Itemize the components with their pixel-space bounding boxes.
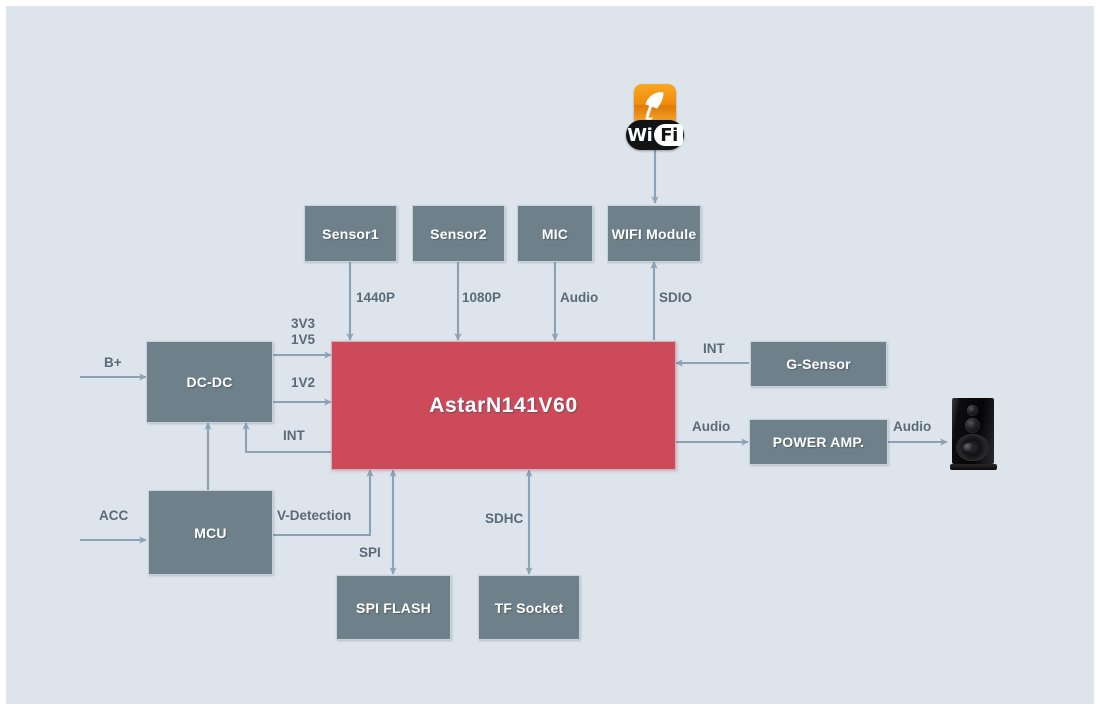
speaker-tweeter xyxy=(967,405,978,416)
wifi-wordmark: Wi Fi xyxy=(626,120,684,150)
block-tf-socket-label: TF Socket xyxy=(495,600,564,616)
block-wifi-module[interactable]: WIFI Module xyxy=(607,205,701,262)
block-sensor2-label: Sensor2 xyxy=(430,226,487,242)
block-soc-label: AstarN141V60 xyxy=(429,394,577,418)
block-power-amp[interactable]: POWER AMP. xyxy=(749,419,888,465)
block-spi-flash[interactable]: SPI FLASH xyxy=(336,575,451,640)
block-tf-socket[interactable]: TF Socket xyxy=(478,575,580,640)
speaker-icon xyxy=(950,398,997,472)
speaker-base xyxy=(950,464,997,470)
label-v-detection: V-Detection xyxy=(277,508,351,525)
label-mic-audio: Audio xyxy=(560,290,598,307)
label-soc-int: INT xyxy=(283,428,305,445)
label-spi: SPI xyxy=(359,545,381,562)
block-spi-flash-label: SPI FLASH xyxy=(356,600,431,616)
label-3v3: 3V3 xyxy=(291,316,315,333)
block-wifi-module-label: WIFI Module xyxy=(612,226,697,242)
label-amp-audio-out: Audio xyxy=(893,419,931,436)
label-1080p: 1080P xyxy=(462,290,501,307)
label-1440p: 1440P xyxy=(356,290,395,307)
wifi-wordmark-fi: Fi xyxy=(660,125,677,146)
block-sensor1[interactable]: Sensor1 xyxy=(304,205,397,262)
label-gsensor-int: INT xyxy=(703,341,725,358)
block-sensor2[interactable]: Sensor2 xyxy=(412,205,505,262)
block-mic-label: MIC xyxy=(542,226,568,242)
label-1v2: 1V2 xyxy=(291,375,315,392)
block-soc-astarn141v60[interactable]: AstarN141V60 xyxy=(331,341,676,470)
label-soc-audio-out: Audio xyxy=(692,419,730,436)
diagram-canvas: Sensor1 Sensor2 MIC WIFI Module AstarN14… xyxy=(0,0,1100,710)
block-dcdc-label: DC-DC xyxy=(186,374,232,390)
wifi-logo: Wi Fi xyxy=(626,84,684,150)
block-g-sensor-label: G-Sensor xyxy=(786,356,851,372)
wire-mcu-vdetection-to-soc xyxy=(273,470,370,535)
block-g-sensor[interactable]: G-Sensor xyxy=(750,341,887,387)
block-power-amp-label: POWER AMP. xyxy=(773,434,864,450)
label-sdio: SDIO xyxy=(659,290,692,307)
wifi-wordmark-wi: Wi xyxy=(627,125,654,146)
label-bplus: B+ xyxy=(104,355,122,372)
block-sensor1-label: Sensor1 xyxy=(322,226,379,242)
label-sdhc: SDHC xyxy=(485,511,523,528)
speaker-midrange xyxy=(965,418,980,433)
label-acc: ACC xyxy=(99,508,128,525)
speaker-woofer-dome xyxy=(963,443,974,452)
label-1v5: 1V5 xyxy=(291,332,315,349)
block-dcdc[interactable]: DC-DC xyxy=(146,341,273,423)
block-mcu[interactable]: MCU xyxy=(148,490,273,575)
block-mcu-label: MCU xyxy=(194,525,226,541)
wifi-wordmark-fi-badge: Fi xyxy=(654,124,682,146)
block-mic[interactable]: MIC xyxy=(517,205,593,262)
